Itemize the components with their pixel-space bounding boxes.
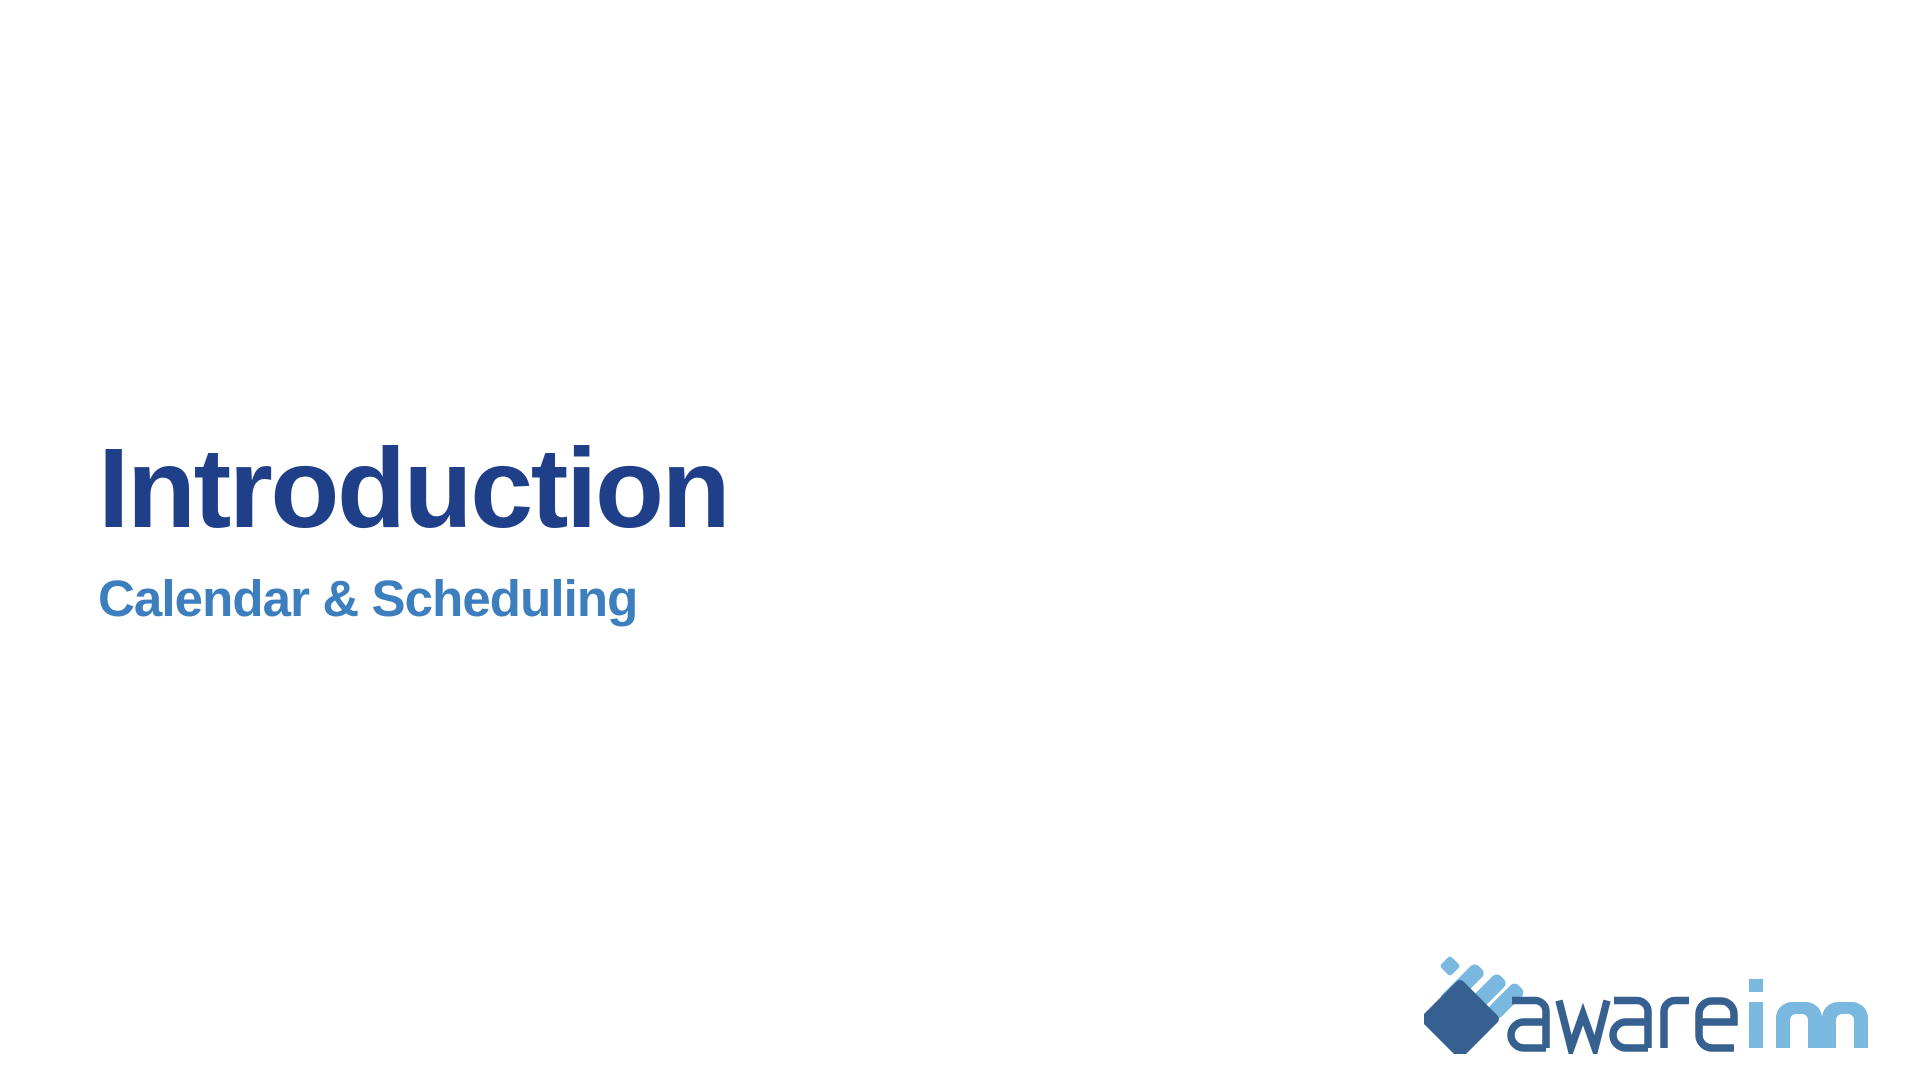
awareim-logo-svg: awareim [1424,948,1900,1054]
slide-canvas: Introduction Calendar & Scheduling aware… [0,0,1920,1080]
letter-e [1699,1001,1734,1048]
letter-m-left [1776,1002,1822,1048]
awareim-logo: awareim [1424,948,1900,1054]
wordmark-im [1749,979,1868,1048]
page-subtitle: Calendar & Scheduling [98,545,1198,624]
letter-i-stem [1749,1002,1763,1048]
letter-m-right [1822,1002,1868,1048]
wordmark-aware [1511,1001,1734,1049]
page-title: Introduction [98,432,1198,545]
letter-i-dot [1749,979,1763,992]
letter-r [1664,1001,1689,1049]
title-block: Introduction Calendar & Scheduling [98,432,1198,624]
letter-a2-bowl-bottom [1613,1022,1648,1048]
letter-w [1559,1001,1607,1049]
motion-bar-square [1439,955,1460,976]
letter-a-bowl-bottom [1511,1022,1546,1048]
